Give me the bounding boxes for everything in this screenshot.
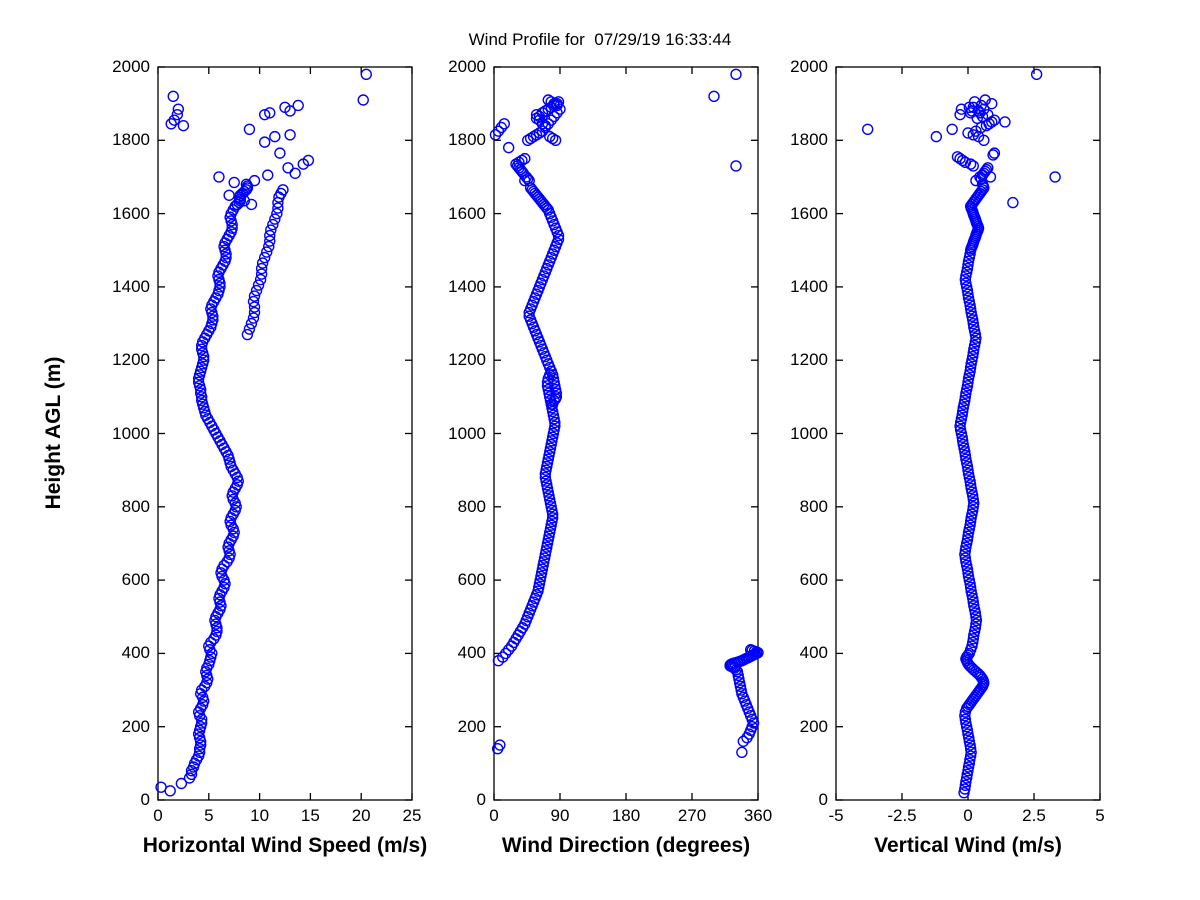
y-tick-label: 1800 — [768, 130, 828, 150]
data-point — [178, 121, 188, 131]
y-tick-label: 0 — [90, 790, 150, 810]
y-tick-label: 1000 — [426, 424, 486, 444]
data-point — [1050, 172, 1060, 182]
x-tick-label: 5 — [1060, 806, 1140, 826]
y-tick-label: 800 — [426, 497, 486, 517]
y-tick-label: 0 — [768, 790, 828, 810]
y-tick-label: 1400 — [768, 277, 828, 297]
y-tick-label: 600 — [768, 570, 828, 590]
data-point — [1008, 198, 1018, 208]
data-point — [358, 95, 368, 105]
y-tick-label: 1000 — [768, 424, 828, 444]
data-point — [709, 91, 719, 101]
y-tick-label: 200 — [90, 717, 150, 737]
data-point — [513, 630, 523, 640]
y-tick-label: 400 — [768, 643, 828, 663]
data-point — [283, 163, 293, 173]
data-point — [504, 143, 514, 153]
data-point — [731, 161, 741, 171]
data-point — [509, 637, 519, 647]
wind-profile-figure: Wind Profile for 07/29/19 16:33:44 05101… — [0, 0, 1200, 900]
data-point — [293, 100, 303, 110]
y-tick-label: 400 — [90, 643, 150, 663]
y-tick-label: 2000 — [90, 57, 150, 77]
y-tick-label: 1600 — [768, 204, 828, 224]
y-tick-label: 200 — [768, 717, 828, 737]
y-axis-label: Height AGL (m) — [42, 283, 66, 583]
data-point — [495, 740, 505, 750]
data-point — [250, 176, 260, 186]
data-point — [515, 626, 525, 636]
panel-1-xlabel: Horizontal Wind Speed (m/s) — [85, 834, 485, 858]
y-tick-label: 600 — [426, 570, 486, 590]
data-point — [244, 124, 254, 134]
axes-box — [494, 67, 758, 800]
data-point — [931, 132, 941, 142]
data-series-1 — [156, 69, 371, 796]
y-tick-label: 1000 — [90, 424, 150, 444]
y-tick-label: 200 — [426, 717, 486, 737]
data-series-2 — [490, 69, 763, 757]
data-point — [260, 137, 270, 147]
y-tick-label: 1200 — [426, 350, 486, 370]
data-point — [863, 124, 873, 134]
data-point — [168, 91, 178, 101]
figure-title: Wind Profile for 07/29/19 16:33:44 — [0, 30, 1200, 50]
y-tick-label: 1800 — [90, 130, 150, 150]
y-tick-label: 2000 — [426, 57, 486, 77]
data-point — [1032, 69, 1042, 79]
y-tick-label: 1600 — [426, 204, 486, 224]
y-tick-label: 800 — [90, 497, 150, 517]
panel-2-plot — [480, 53, 772, 814]
panel-3-plot — [822, 53, 1114, 814]
y-tick-label: 1800 — [426, 130, 486, 150]
y-tick-label: 0 — [426, 790, 486, 810]
panel-1-plot — [144, 53, 426, 814]
data-point — [511, 634, 521, 644]
panel-3-xlabel: Vertical Wind (m/s) — [768, 834, 1168, 858]
y-tick-label: 800 — [768, 497, 828, 517]
data-point — [737, 747, 747, 757]
panel-2-xlabel: Wind Direction (degrees) — [426, 834, 826, 858]
data-point — [275, 148, 285, 158]
y-tick-label: 600 — [90, 570, 150, 590]
y-tick-label: 400 — [426, 643, 486, 663]
data-point — [361, 69, 371, 79]
y-tick-label: 1400 — [426, 277, 486, 297]
data-point — [947, 124, 957, 134]
y-tick-label: 1400 — [90, 277, 150, 297]
data-point — [285, 130, 295, 140]
data-point — [263, 170, 273, 180]
data-point — [224, 190, 234, 200]
data-point — [290, 168, 300, 178]
y-tick-label: 1200 — [768, 350, 828, 370]
data-point — [1000, 117, 1010, 127]
data-series-3 — [863, 69, 1060, 797]
data-point — [270, 132, 280, 142]
data-point — [731, 69, 741, 79]
y-tick-label: 2000 — [768, 57, 828, 77]
data-point — [214, 172, 224, 182]
data-point — [229, 177, 239, 187]
y-tick-label: 1600 — [90, 204, 150, 224]
y-tick-label: 1200 — [90, 350, 150, 370]
